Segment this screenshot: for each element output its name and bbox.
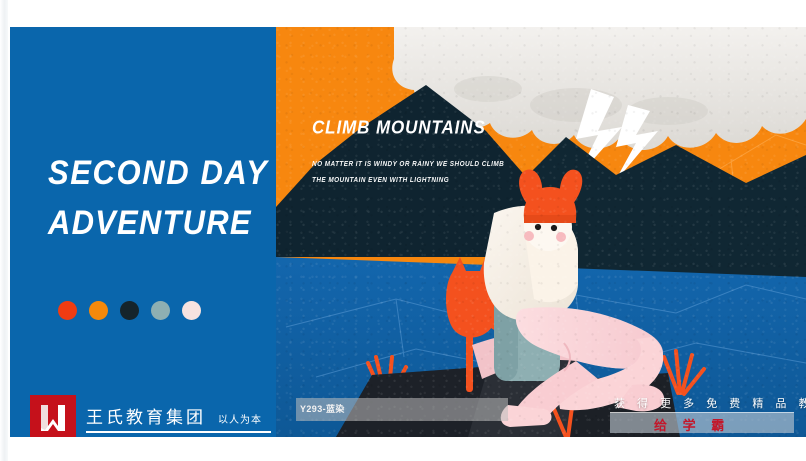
illustration-artwork xyxy=(276,27,806,437)
left-blue-panel: SECOND DAY ADVENTURE xyxy=(10,27,276,437)
brand-underline xyxy=(86,431,271,433)
screenshot-root: CLIMB MOUNTAINS NO MATTER IT IS WINDY OR… xyxy=(0,0,806,461)
illustration-subtitle-line2: THE MOUNTAIN EVEN WITH LIGHTNING xyxy=(312,173,504,189)
promo-block: 获 得 更 多 免 费 精 品 教 程 给 学 霸 xyxy=(596,392,806,437)
color-swatch-orange xyxy=(89,301,108,320)
slide-title-line-2: ADVENTURE xyxy=(48,195,278,251)
brand-name: 王氏教育集团 xyxy=(86,403,206,428)
illustration-text-block: CLIMB MOUNTAINS NO MATTER IT IS WINDY OR… xyxy=(312,117,504,186)
watermark-label: Y293-蓝染 xyxy=(300,402,345,415)
brand-footer: 王氏教育集团 以人为本 xyxy=(30,395,262,437)
page-gutter xyxy=(0,0,8,461)
slide-canvas: CLIMB MOUNTAINS NO MATTER IT IS WINDY OR… xyxy=(10,27,806,437)
color-swatch-dark-navy xyxy=(120,301,139,320)
color-swatch-row xyxy=(58,301,201,320)
color-swatch-gray-teal xyxy=(151,301,170,320)
color-swatch-red-orange xyxy=(58,301,77,320)
brand-text-group: 王氏教育集团 以人为本 xyxy=(86,403,262,433)
slide-title-line-1: SECOND DAY xyxy=(48,145,278,201)
illustration-heading: CLIMB MOUNTAINS xyxy=(312,117,504,139)
brand-logo-icon xyxy=(30,395,76,437)
illustration-subtitle-line1: NO MATTER IT IS WINDY OR RAINY WE SHOULD… xyxy=(312,157,504,173)
color-swatch-pale-pink xyxy=(182,301,201,320)
illustration-panel: CLIMB MOUNTAINS NO MATTER IT IS WINDY OR… xyxy=(276,27,806,437)
promo-subtext: 给 学 霸 xyxy=(654,415,730,434)
slide-title-block: SECOND DAY ADVENTURE xyxy=(48,145,278,245)
brand-slogan: 以人为本 xyxy=(218,411,262,426)
promo-headline: 获 得 更 多 免 费 精 品 教 程 xyxy=(614,395,806,411)
